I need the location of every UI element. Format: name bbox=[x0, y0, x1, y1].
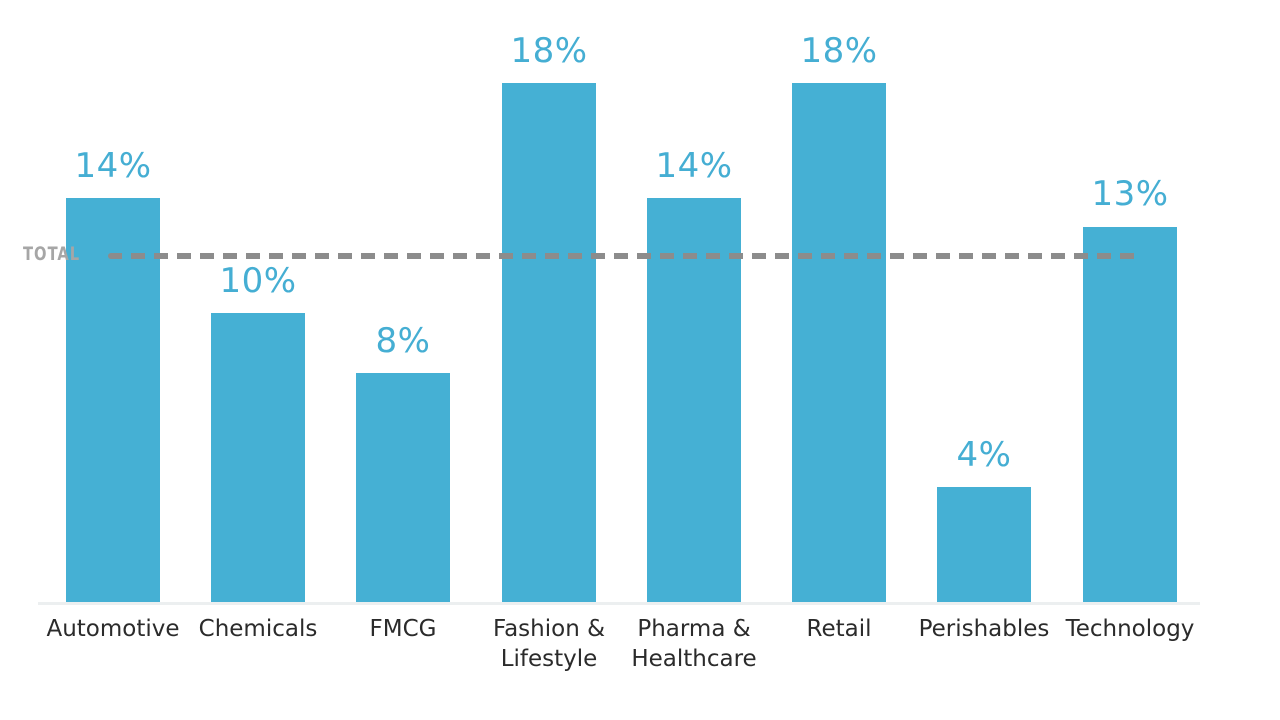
x-tick-label-line: Lifestyle bbox=[474, 644, 624, 674]
bar-value-label: 18% bbox=[502, 31, 596, 71]
x-tick-label-line: Automotive bbox=[38, 614, 188, 644]
bar-value-label: 14% bbox=[66, 146, 160, 186]
bar-value-label: 13% bbox=[1083, 174, 1177, 214]
bar-value-label: 14% bbox=[647, 146, 741, 186]
x-tick-label-line: Chemicals bbox=[183, 614, 333, 644]
bar-group-perishables[interactable]: 4% bbox=[937, 0, 1031, 604]
total-reference-label: TOTAL bbox=[23, 243, 80, 265]
bar-group-pharma-healthcare[interactable]: 14% bbox=[647, 0, 741, 604]
bar-perishables[interactable] bbox=[937, 487, 1031, 604]
bar-group-automotive[interactable]: 14% bbox=[66, 0, 160, 604]
x-tick-label-fashion-lifestyle: Fashion & Lifestyle bbox=[474, 614, 624, 674]
x-tick-label-automotive: Automotive bbox=[38, 614, 188, 644]
x-axis-line bbox=[38, 602, 1200, 605]
x-axis-tick-labels: Automotive Chemicals FMCG Fashion & Life… bbox=[0, 614, 1280, 720]
x-tick-label-line: Fashion & bbox=[474, 614, 624, 644]
x-tick-label-retail: Retail bbox=[764, 614, 914, 644]
bar-value-label: 4% bbox=[937, 435, 1031, 475]
x-tick-label-technology: Technology bbox=[1055, 614, 1205, 644]
x-tick-label-chemicals: Chemicals bbox=[183, 614, 333, 644]
plot-area: 14% 10% 8% 18% 14% 18% 4% bbox=[0, 0, 1280, 604]
x-tick-label-line: Perishables bbox=[909, 614, 1059, 644]
bar-value-label: 10% bbox=[211, 261, 305, 301]
bar-chart: 14% 10% 8% 18% 14% 18% 4% bbox=[0, 0, 1280, 720]
bar-group-chemicals[interactable]: 10% bbox=[211, 0, 305, 604]
bar-value-label: 8% bbox=[356, 321, 450, 361]
bar-fashion-lifestyle[interactable] bbox=[502, 83, 596, 604]
bar-retail[interactable] bbox=[792, 83, 886, 604]
bar-group-technology[interactable]: 13% bbox=[1083, 0, 1177, 604]
bar-chemicals[interactable] bbox=[211, 313, 305, 604]
bar-group-fashion-lifestyle[interactable]: 18% bbox=[502, 0, 596, 604]
x-tick-label-line: Technology bbox=[1055, 614, 1205, 644]
x-tick-label-line: FMCG bbox=[328, 614, 478, 644]
total-reference-line bbox=[108, 253, 1137, 259]
bar-fmcg[interactable] bbox=[356, 373, 450, 604]
x-tick-label-line: Pharma & bbox=[619, 614, 769, 644]
bar-value-label: 18% bbox=[792, 31, 886, 71]
x-tick-label-line: Healthcare bbox=[619, 644, 769, 674]
bar-technology[interactable] bbox=[1083, 227, 1177, 604]
x-tick-label-pharma-healthcare: Pharma & Healthcare bbox=[619, 614, 769, 674]
bar-group-fmcg[interactable]: 8% bbox=[356, 0, 450, 604]
x-tick-label-fmcg: FMCG bbox=[328, 614, 478, 644]
x-tick-label-perishables: Perishables bbox=[909, 614, 1059, 644]
x-tick-label-line: Retail bbox=[764, 614, 914, 644]
bar-group-retail[interactable]: 18% bbox=[792, 0, 886, 604]
